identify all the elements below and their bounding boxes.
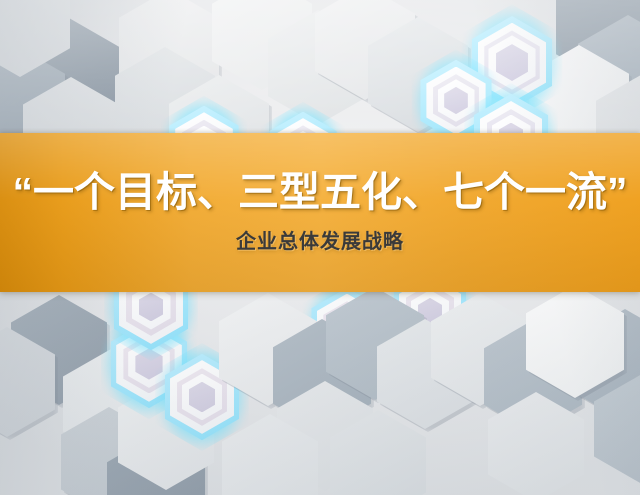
banner-subtitle: 企业总体发展战略 (236, 225, 404, 254)
banner-title: “一个目标、三型五化、七个一流” (13, 171, 628, 214)
title-slide: “一个目标、三型五化、七个一流” 企业总体发展战略 (0, 0, 640, 495)
title-banner: “一个目标、三型五化、七个一流” 企业总体发展战略 (0, 133, 640, 292)
